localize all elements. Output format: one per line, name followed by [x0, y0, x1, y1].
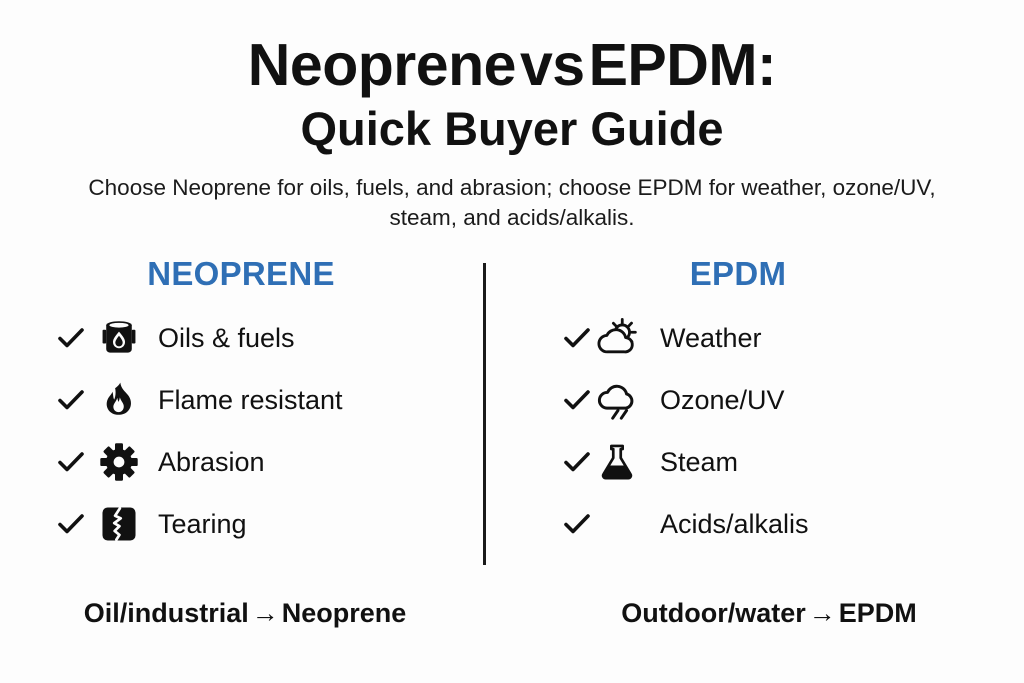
check-icon [562, 447, 592, 477]
column-heading-epdm: EPDM [512, 255, 1024, 293]
footer-left-condition: Oil/industrial [84, 598, 249, 628]
tear-crack-icon [96, 501, 142, 547]
sun-behind-cloud-icon [594, 315, 640, 361]
list-item: Oils & fuels [56, 307, 512, 369]
flask-icon [594, 439, 640, 485]
gear-icon [96, 439, 142, 485]
footer-left-result: Neoprene [282, 598, 407, 628]
title-product-right: EPDM: [589, 32, 777, 98]
list-item: Acids/alkalis [562, 493, 1024, 555]
footer-recommendation-neoprene: Oil/industrial→Neoprene [0, 598, 524, 629]
footer-recommendation-epdm: Outdoor/water→EPDM [524, 598, 1024, 629]
list-item: Abrasion [56, 431, 512, 493]
check-icon [56, 385, 86, 415]
column-neoprene: NEOPRENE [0, 255, 512, 555]
list-item-label: Acids/alkalis [660, 509, 809, 540]
empty-icon-slot [594, 501, 640, 547]
column-epdm: EPDM [512, 255, 1024, 555]
list-item: Flame resistant [56, 369, 512, 431]
flame-icon [96, 377, 142, 423]
list-item-label: Tearing [158, 509, 247, 540]
footer-recommendations: Oil/industrial→Neoprene Outdoor/water→EP… [0, 598, 1024, 629]
rain-cloud-icon [594, 377, 640, 423]
list-item-label: Oils & fuels [158, 323, 295, 354]
list-item: Steam [562, 431, 1024, 493]
check-icon [56, 509, 86, 539]
check-icon [562, 385, 592, 415]
list-item: Tearing [56, 493, 512, 555]
title-vs: vs [516, 32, 589, 98]
list-item-label: Weather [660, 323, 762, 354]
epdm-feature-list: Weather O [512, 307, 1024, 555]
check-icon [56, 447, 86, 477]
list-item: Ozone/UV [562, 369, 1024, 431]
page-title-line-1: NeoprenevsEPDM: [0, 34, 1024, 97]
header: NeoprenevsEPDM: Quick Buyer Guide Choose… [0, 0, 1024, 233]
list-item-label: Flame resistant [158, 385, 343, 416]
footer-right-result: EPDM [839, 598, 917, 628]
title-product-left: Neoprene [248, 32, 516, 98]
infographic-sheet: NeoprenevsEPDM: Quick Buyer Guide Choose… [0, 0, 1024, 683]
check-icon [562, 509, 592, 539]
check-icon [562, 323, 592, 353]
arrow-right-icon: → [249, 598, 282, 628]
list-item: Weather [562, 307, 1024, 369]
list-item-label: Steam [660, 447, 738, 478]
column-divider [483, 263, 486, 565]
arrow-right-icon: → [806, 598, 839, 628]
footer-right-condition: Outdoor/water [621, 598, 806, 628]
column-heading-neoprene: NEOPRENE [0, 255, 512, 293]
page-subtitle: Choose Neoprene for oils, fuels, and abr… [72, 173, 952, 233]
check-icon [56, 323, 86, 353]
comparison-columns: NEOPRENE [0, 255, 1024, 555]
list-item-label: Abrasion [158, 447, 265, 478]
neoprene-feature-list: Oils & fuels Flame resistant [0, 307, 512, 555]
page-title-line-2: Quick Buyer Guide [0, 103, 1024, 156]
oil-barrel-icon [96, 315, 142, 361]
list-item-label: Ozone/UV [660, 385, 785, 416]
